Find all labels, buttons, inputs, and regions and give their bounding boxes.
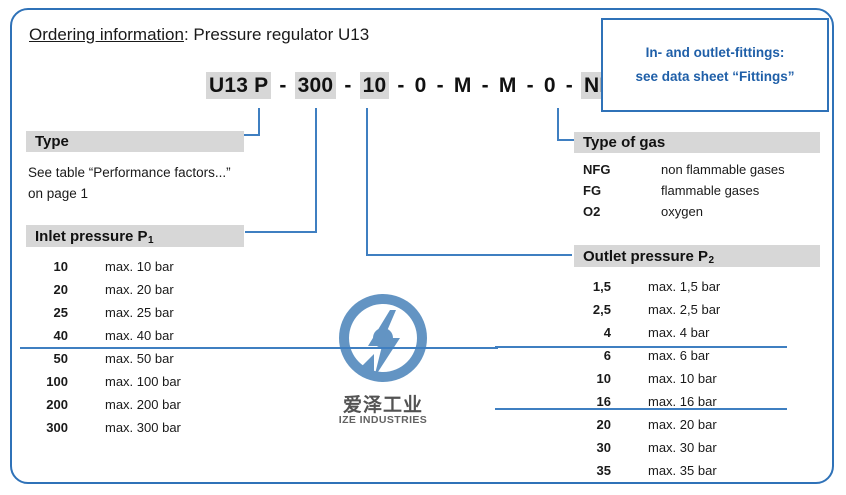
part-number-segment: -	[395, 74, 406, 97]
row-value: max. 2,5 bar	[611, 302, 720, 317]
part-number-segment: -	[564, 74, 575, 97]
part-number-segment: -	[525, 74, 536, 97]
leader-line-inlet-horizontal	[245, 231, 317, 233]
table-row: 30max. 30 bar	[553, 436, 720, 459]
row-code: 10	[10, 259, 68, 274]
row-code: 4	[553, 325, 611, 340]
row-code: 50	[10, 351, 68, 366]
part-number-segment: U13 P	[206, 72, 271, 99]
row-value: max. 50 bar	[68, 351, 174, 366]
row-code: 20	[553, 417, 611, 432]
part-number-segment: 0	[542, 74, 558, 97]
outlet-pressure-table: 1,5max. 1,5 bar2,5max. 2,5 bar4max. 4 ba…	[553, 275, 720, 482]
leader-line-gas-horizontal	[557, 139, 575, 141]
row-code: 1,5	[553, 279, 611, 294]
row-value: max. 30 bar	[611, 440, 717, 455]
part-number-segment: M	[497, 74, 519, 97]
type-section-heading: Type	[26, 131, 244, 152]
leader-line-gas-vertical	[557, 108, 559, 141]
row-value: oxygen	[637, 204, 703, 219]
row-value: max. 25 bar	[68, 305, 174, 320]
table-row: O2oxygen	[574, 201, 785, 222]
leader-line-type-vertical	[258, 108, 260, 136]
row-value: max. 20 bar	[68, 282, 174, 297]
row-value: max. 40 bar	[68, 328, 174, 343]
row-value: non flammable gases	[637, 162, 785, 177]
table-row: 25max. 25 bar	[10, 301, 181, 324]
row-code: 20	[10, 282, 68, 297]
fittings-note-line-1: In- and outlet-fittings:	[646, 41, 785, 65]
table-row: 4max. 4 bar	[553, 321, 720, 344]
part-number-segment: 0	[413, 74, 429, 97]
table-row: 50max. 50 bar	[10, 347, 181, 370]
gas-type-table: NFGnon flammable gasesFGflammable gasesO…	[574, 159, 785, 222]
table-row: 2,5max. 2,5 bar	[553, 298, 720, 321]
table-row: FGflammable gases	[574, 180, 785, 201]
ize-industries-logo-icon	[318, 292, 448, 388]
page-title-underlined: Ordering information	[29, 25, 184, 44]
outlet-pressure-heading: Outlet pressure P2	[574, 245, 820, 267]
row-value: max. 35 bar	[611, 463, 717, 478]
outlet-divider-rule-1	[495, 346, 787, 348]
row-code: 200	[10, 397, 68, 412]
page-title: Ordering information: Pressure regulator…	[29, 25, 369, 45]
fittings-note-box: In- and outlet-fittings: see data sheet …	[601, 18, 829, 112]
row-value: max. 16 bar	[611, 394, 717, 409]
row-code: 30	[553, 440, 611, 455]
table-row: 40max. 40 bar	[10, 324, 181, 347]
leader-line-outlet-vertical	[366, 108, 368, 256]
row-value: max. 200 bar	[68, 397, 181, 412]
fittings-note-line-2: see data sheet “Fittings”	[635, 65, 794, 89]
leader-line-inlet-vertical	[315, 108, 317, 233]
row-value: max. 4 bar	[611, 325, 709, 340]
ordering-information-sheet: 爱泽工业 IZE INDUSTRIES Ordering information…	[0, 0, 846, 495]
row-code: 6	[553, 348, 611, 363]
table-row: 35max. 35 bar	[553, 459, 720, 482]
row-value: max. 10 bar	[611, 371, 717, 386]
row-code: FG	[574, 183, 637, 198]
row-value: max. 1,5 bar	[611, 279, 720, 294]
outlet-pressure-heading-subscript: 2	[709, 255, 715, 266]
part-number-segment: -	[277, 74, 288, 97]
inlet-pressure-heading-text: Inlet pressure P	[35, 228, 148, 245]
row-value: max. 100 bar	[68, 374, 181, 389]
watermark-text-cn: 爱泽工业	[318, 390, 448, 417]
row-code: NFG	[574, 162, 637, 177]
type-section-line-1: See table “Performance factors...”	[28, 162, 231, 183]
part-number-segment: -	[342, 74, 353, 97]
row-code: O2	[574, 204, 637, 219]
part-number-segment: 10	[360, 72, 390, 99]
row-code: 40	[10, 328, 68, 343]
inlet-divider-rule	[20, 347, 498, 349]
leader-line-type-horizontal	[244, 134, 260, 136]
part-number-segment: 300	[295, 72, 337, 99]
table-row: 20max. 20 bar	[10, 278, 181, 301]
row-value: flammable gases	[637, 183, 759, 198]
table-row: 1,5max. 1,5 bar	[553, 275, 720, 298]
outlet-pressure-heading-text: Outlet pressure P	[583, 248, 708, 265]
gas-type-heading: Type of gas	[574, 132, 820, 153]
row-code: 2,5	[553, 302, 611, 317]
part-number-segment: -	[480, 74, 491, 97]
row-code: 25	[10, 305, 68, 320]
row-code: 16	[553, 394, 611, 409]
part-number-code: U13 P - 300 - 10 - 0 - M - M - 0 - NFG	[206, 74, 632, 98]
table-row: 10max. 10 bar	[10, 255, 181, 278]
row-code: 100	[10, 374, 68, 389]
table-row: 200max. 200 bar	[10, 393, 181, 416]
row-value: max. 300 bar	[68, 420, 181, 435]
leader-line-outlet-horizontal	[366, 254, 572, 256]
row-value: max. 20 bar	[611, 417, 717, 432]
table-row: 300max. 300 bar	[10, 416, 181, 439]
row-code: 10	[553, 371, 611, 386]
page-title-rest: : Pressure regulator U13	[184, 25, 369, 44]
row-value: max. 10 bar	[68, 259, 174, 274]
table-row: NFGnon flammable gases	[574, 159, 785, 180]
row-code: 300	[10, 420, 68, 435]
part-number-segment: M	[452, 74, 474, 97]
row-value: max. 6 bar	[611, 348, 709, 363]
outlet-divider-rule-2	[495, 408, 787, 410]
table-row: 10max. 10 bar	[553, 367, 720, 390]
type-section-line-2: on page 1	[28, 183, 88, 204]
inlet-pressure-heading: Inlet pressure P1	[26, 225, 244, 247]
table-row: 20max. 20 bar	[553, 413, 720, 436]
watermark-text-en: IZE INDUSTRIES	[318, 414, 448, 426]
row-code: 35	[553, 463, 611, 478]
table-row: 100max. 100 bar	[10, 370, 181, 393]
inlet-pressure-heading-subscript: 1	[148, 235, 154, 246]
part-number-segment: -	[435, 74, 446, 97]
watermark-logo: 爱泽工业 IZE INDUSTRIES	[318, 292, 448, 442]
